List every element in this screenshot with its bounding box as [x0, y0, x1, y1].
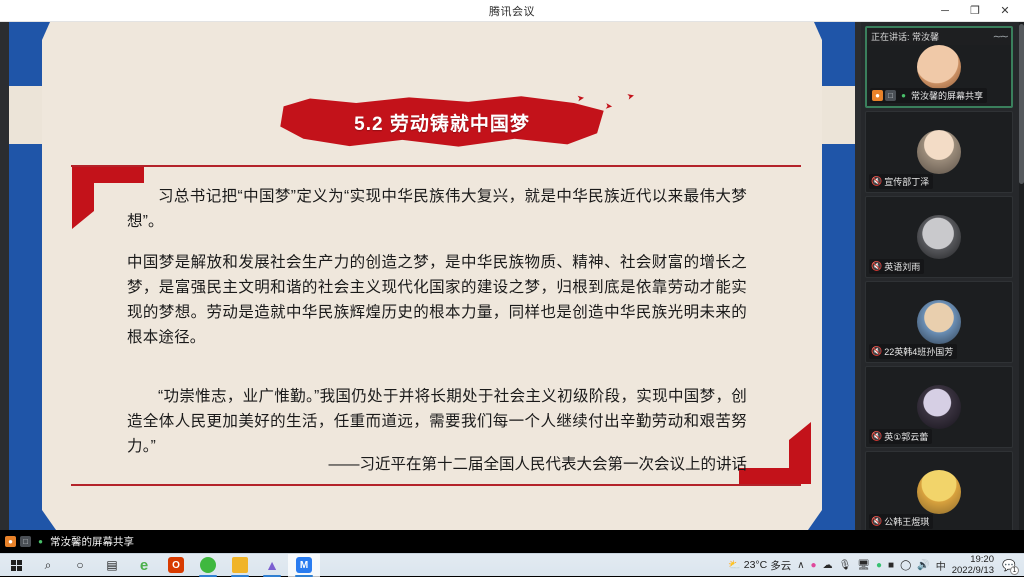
search-icon: ⌕: [45, 559, 52, 571]
system-tray: ⛅ 23°C 多云 ∧ ● ☁ 🎙 🖥 ● ■ ◯ 🔊 中 19:20 2022…: [728, 554, 1024, 577]
participant-name-chip: 🔇 公韩王煜琪: [869, 514, 933, 529]
slide-paragraph-2: 中国梦是解放和发展社会生产力的创造之梦，是中华民族物质、精神、社会财富的增长之梦…: [127, 250, 747, 350]
cortana-circle-icon: ○: [76, 559, 83, 571]
office-icon: O: [168, 557, 184, 573]
start-button[interactable]: [0, 554, 32, 577]
speaking-label: 正在讲话: 常汝馨: [871, 30, 939, 43]
participant-name: 常汝馨的屏幕共享: [911, 89, 983, 102]
mic-icon[interactable]: 🎙: [839, 560, 852, 571]
participant-name: 英语刘雨: [884, 260, 920, 273]
maximize-button[interactable]: ❐: [960, 0, 990, 22]
clock-time: 19:20: [970, 554, 994, 565]
audio-wave-icon: ∼∼: [993, 30, 1007, 43]
mic-muted-icon: 🔇: [871, 431, 882, 442]
participant-name-chip: 🔇 英语刘雨: [869, 259, 924, 274]
mic-muted-icon: 🔇: [871, 176, 882, 187]
user-icon[interactable]: ●: [811, 560, 817, 571]
content-top-rule: [71, 165, 801, 167]
close-button[interactable]: ✕: [990, 0, 1020, 22]
mic-muted-icon: 🔇: [871, 261, 882, 272]
presentation-slide: ➤ ➤ ➤ 5.2 劳动铸就中国梦 习总书记把“中国梦”定义为“实现中华民族伟大…: [9, 22, 855, 530]
ime-indicator[interactable]: 中: [936, 558, 946, 573]
mic-on-icon: ●: [898, 90, 909, 101]
office-button[interactable]: O: [160, 554, 192, 577]
avatar: [917, 130, 961, 174]
notification-count: 1: [1010, 566, 1019, 575]
participant-tile[interactable]: 🔇 宣传部丁泽: [865, 111, 1013, 193]
wifi-icon[interactable]: ◯: [900, 560, 911, 571]
participant-tile[interactable]: 🔇 公韩王煜琪: [865, 451, 1013, 530]
taskbar-apps: ⌕ ○ ▤ e O ▲ M: [0, 554, 320, 577]
roster-scrollbar-thumb[interactable]: [1019, 24, 1024, 184]
window-titlebar: 腾讯会议 ─ ❐ ✕: [0, 0, 1024, 22]
weather-condition: 多云: [770, 558, 791, 573]
participant-tile[interactable]: 🔇 22英韩4班孙国芳: [865, 281, 1013, 363]
slide-title: 5.2 劳动铸就中国梦: [277, 94, 607, 150]
search-button[interactable]: ⌕: [32, 554, 64, 577]
task-view-button[interactable]: ▤: [96, 554, 128, 577]
avatar: [917, 215, 961, 259]
edge-button[interactable]: e: [128, 554, 160, 577]
avatar: [917, 45, 961, 89]
slide-attribution: ——习近平在第十二届全国人民代表大会第一次会议上的讲话: [127, 452, 747, 477]
participant-name-chip: 🔇 宣传部丁泽: [869, 174, 933, 189]
dot-icon[interactable]: ●: [876, 560, 882, 571]
weather-temperature: 23°C: [744, 559, 767, 571]
bird-decoration-icon: ➤: [626, 91, 636, 102]
volume-icon[interactable]: 🔊: [917, 560, 929, 571]
screen-share-icon: □: [885, 90, 896, 101]
avatar: [917, 470, 961, 514]
host-icon: ●: [872, 90, 883, 101]
participant-name-chip: ● □ ● 常汝馨的屏幕共享: [870, 88, 987, 103]
participant-roster[interactable]: 正在讲话: 常汝馨 ∼∼ ● □ ● 常汝馨的屏幕共享 🔇 宣传部丁泽 🔇 英语…: [861, 22, 1024, 530]
slide-title-banner: 5.2 劳动铸就中国梦: [277, 94, 607, 150]
windows-logo-icon: [11, 560, 22, 571]
mic-on-icon: ●: [35, 536, 46, 547]
participant-tile-active[interactable]: 正在讲话: 常汝馨 ∼∼ ● □ ● 常汝馨的屏幕共享: [865, 26, 1013, 108]
slide-paragraph-1: 习总书记把“中国梦”定义为“实现中华民族伟大复兴，就是中华民族近代以来最伟大梦想…: [127, 184, 747, 234]
minimize-button[interactable]: ─: [930, 0, 960, 22]
participant-name: 英①郭云蕾: [884, 430, 928, 443]
cortana-button[interactable]: ○: [64, 554, 96, 577]
slide-paragraph-3: “功崇惟志，业广惟勤。”我国仍处于并将长期处于社会主义初级阶段，实现中国梦，创造…: [127, 384, 747, 459]
meeting-window: ➤ ➤ ➤ 5.2 劳动铸就中国梦 习总书记把“中国梦”定义为“实现中华民族伟大…: [0, 22, 1024, 553]
file-explorer-button[interactable]: [224, 554, 256, 577]
notification-center-button[interactable]: 💬 1: [1000, 556, 1018, 574]
wechat-button[interactable]: [192, 554, 224, 577]
task-view-icon: ▤: [106, 559, 117, 571]
cloud-icon[interactable]: ☁: [823, 560, 833, 571]
battery-icon[interactable]: ■: [888, 560, 894, 571]
clock[interactable]: 19:20 2022/9/13: [952, 554, 994, 576]
internet-explorer-icon: e: [136, 557, 152, 573]
avatar: [917, 300, 961, 344]
partly-cloudy-icon: ⛅: [728, 560, 740, 571]
mic-muted-icon: 🔇: [871, 346, 882, 357]
screen-share-status-bar: ● □ ● 常汝馨的屏幕共享: [0, 530, 861, 553]
participant-name: 公韩王煜琪: [884, 515, 929, 528]
tencent-meeting-icon: M: [296, 557, 312, 573]
shared-screen-area[interactable]: ➤ ➤ ➤ 5.2 劳动铸就中国梦 习总书记把“中国梦”定义为“实现中华民族伟大…: [0, 22, 861, 530]
participant-tile[interactable]: 🔇 英①郭云蕾: [865, 366, 1013, 448]
weather-widget[interactable]: ⛅ 23°C 多云: [728, 558, 791, 573]
roster-scrollbar[interactable]: [1019, 22, 1024, 530]
participant-name: 宣传部丁泽: [884, 175, 929, 188]
participant-tile[interactable]: 🔇 英语刘雨: [865, 196, 1013, 278]
wechat-icon: [200, 557, 216, 573]
avatar: [917, 385, 961, 429]
content-bottom-rule: [71, 484, 801, 486]
window-controls: ─ ❐ ✕: [930, 0, 1020, 22]
participant-name: 22英韩4班孙国芳: [884, 345, 953, 358]
screen-share-icon: □: [20, 536, 31, 547]
tencent-meeting-button[interactable]: M: [288, 554, 320, 577]
window-title: 腾讯会议: [489, 3, 535, 19]
mic-muted-icon: 🔇: [871, 516, 882, 527]
tray-overflow-chevron-icon[interactable]: ∧: [797, 560, 804, 571]
participant-name-chip: 🔇 22英韩4班孙国芳: [869, 344, 957, 359]
host-icon: ●: [5, 536, 16, 547]
photos-button[interactable]: ▲: [256, 554, 288, 577]
folder-icon: [232, 557, 248, 573]
screen-icon[interactable]: 🖥: [857, 560, 870, 571]
windows-taskbar: ⌕ ○ ▤ e O ▲ M ⛅ 23°C 多云 ∧: [0, 553, 1024, 576]
share-status-label: 常汝馨的屏幕共享: [50, 534, 134, 549]
photos-icon: ▲: [264, 557, 280, 573]
participant-name-chip: 🔇 英①郭云蕾: [869, 429, 932, 444]
speaking-indicator: 正在讲话: 常汝馨 ∼∼: [867, 28, 1011, 45]
clock-date: 2022/9/13: [952, 565, 994, 576]
